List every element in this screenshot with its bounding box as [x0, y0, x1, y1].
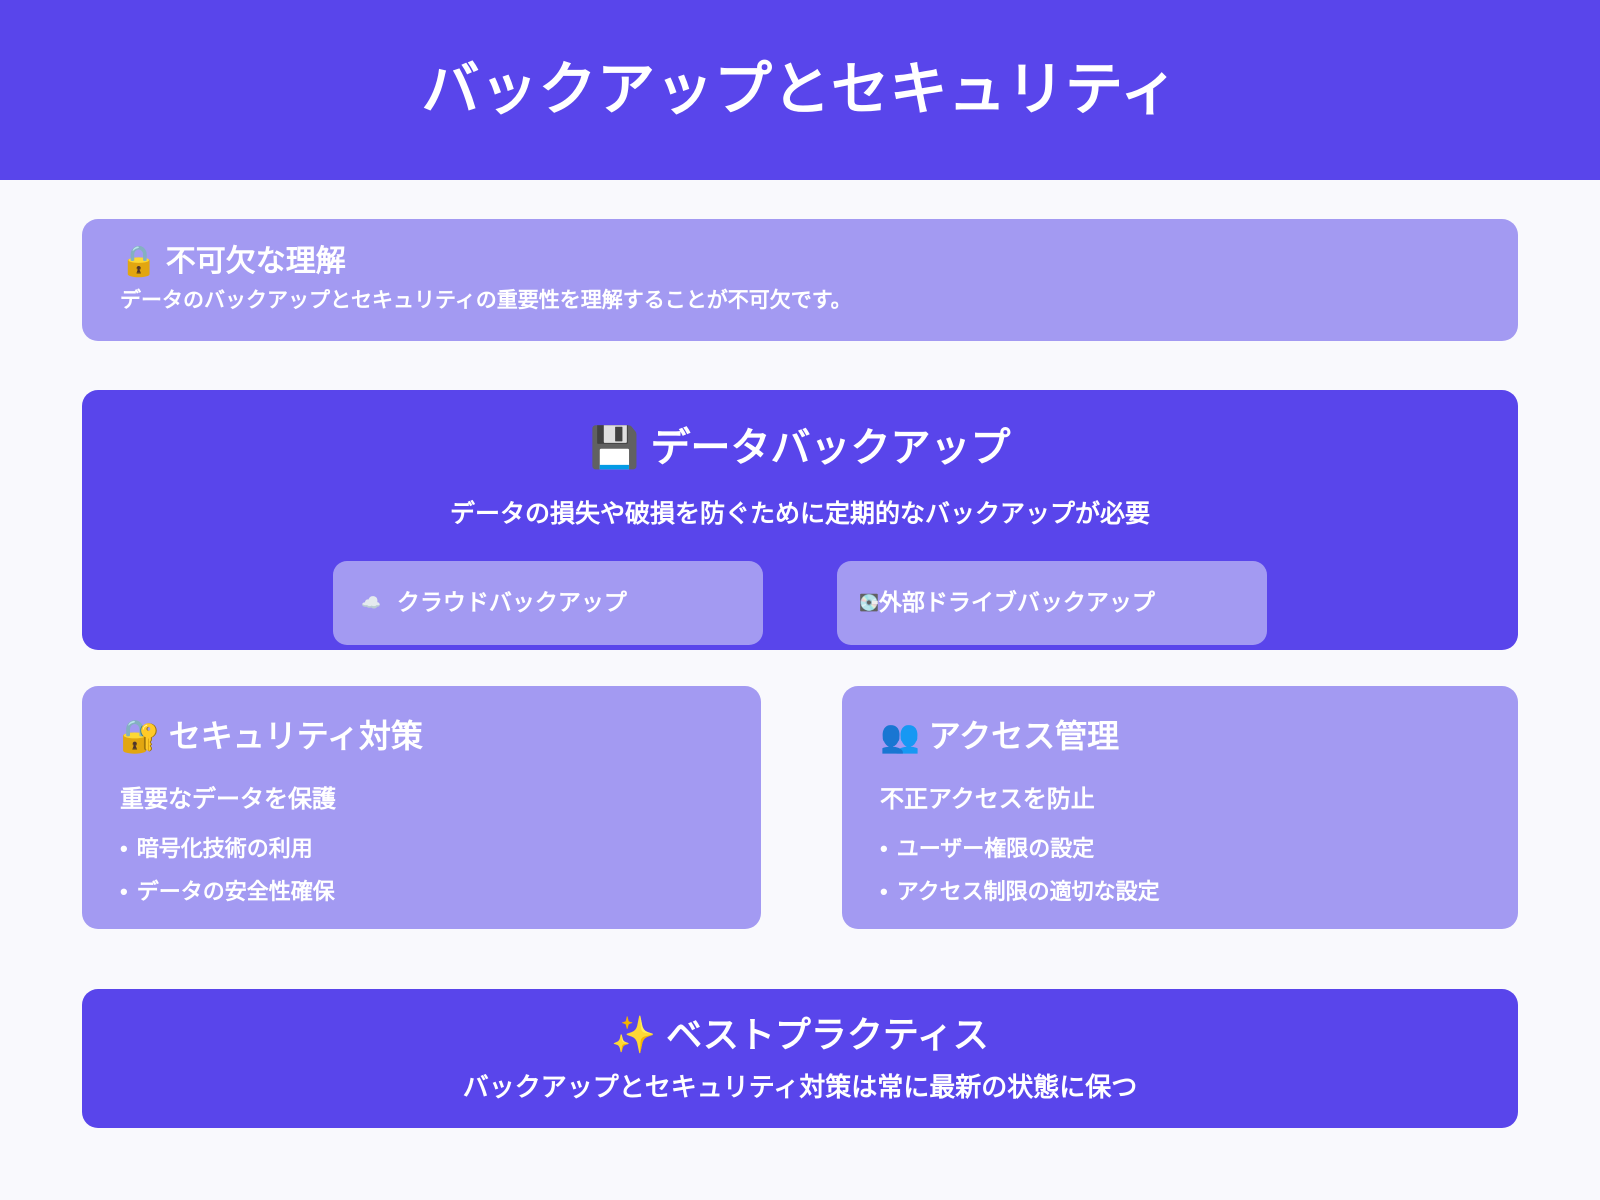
list-item: • データの安全性確保: [120, 878, 723, 907]
backup-option-cloud-label: クラウドバックアップ: [381, 589, 627, 617]
card-best-description: バックアップとセキュリティ対策は常に最新の状態に保つ: [463, 1071, 1137, 1105]
card-access-title: アクセス管理: [929, 718, 1119, 754]
card-security-measures: 🔐 セキュリティ対策 重要なデータを保護 • 暗号化技術の利用 • データの安全…: [82, 686, 761, 929]
card-access-description: 不正アクセスを防止: [880, 784, 1480, 815]
access-bullet-list: • ユーザー権限の設定 • アクセス制限の適切な設定: [880, 835, 1480, 906]
backup-option-cloud[interactable]: ☁️ クラウドバックアップ: [333, 561, 763, 645]
bullet-dot-icon: •: [120, 881, 128, 903]
page-header: バックアップとセキュリティ: [0, 0, 1600, 180]
locked-padlock-icon: 🔒: [120, 244, 157, 279]
backup-option-external-drive[interactable]: 💽 外部ドライブバックアップ: [837, 561, 1267, 645]
card-intro-title-row: 🔒 不可欠な理解: [120, 243, 1480, 281]
floppy-disk-icon: 💾: [590, 425, 640, 471]
security-bullet-list: • 暗号化技術の利用 • データの安全性確保: [120, 835, 723, 906]
list-item: • ユーザー権限の設定: [880, 835, 1480, 864]
page-title: バックアップとセキュリティ: [421, 58, 1178, 122]
card-data-backup: 💾 データバックアップ データの損失や破損を防ぐために定期的なバックアップが必要…: [82, 390, 1518, 650]
sparkles-icon: ✨: [611, 1015, 656, 1056]
card-essential-understanding: 🔒 不可欠な理解 データのバックアップとセキュリティの重要性を理解することが不可…: [82, 219, 1518, 341]
card-access-title-row: 👥 アクセス管理: [880, 716, 1480, 756]
busts-in-silhouette-icon: 👥: [880, 717, 920, 755]
list-item: • 暗号化技術の利用: [120, 835, 723, 864]
card-security-title: セキュリティ対策: [169, 718, 423, 754]
locked-with-key-icon: 🔐: [120, 717, 160, 755]
backup-option-list: ☁️ クラウドバックアップ 💽 外部ドライブバックアップ: [122, 561, 1478, 645]
card-security-title-row: 🔐 セキュリティ対策: [120, 716, 723, 756]
card-access-management: 👥 アクセス管理 不正アクセスを防止 • ユーザー権限の設定 • アクセス制限の…: [842, 686, 1518, 929]
slide-root: バックアップとセキュリティ 🔒 不可欠な理解 データのバックアップとセキュリティ…: [0, 0, 1600, 1200]
cloud-icon: ☁️: [361, 593, 381, 612]
bullet-dot-icon: •: [880, 838, 888, 860]
card-backup-description: データの損失や破損を防ぐために定期的なバックアップが必要: [450, 498, 1150, 531]
backup-option-external-drive-label: 外部ドライブバックアップ: [879, 589, 1155, 617]
card-best-title: ベストプラクティス: [666, 1014, 989, 1055]
bullet-dot-icon: •: [120, 838, 128, 860]
security-bullet-text: 暗号化技術の利用: [137, 835, 313, 864]
card-best-practices: ✨ ベストプラクティス バックアップとセキュリティ対策は常に最新の状態に保つ: [82, 989, 1518, 1128]
card-backup-title: データバックアップ: [650, 426, 1010, 470]
card-intro-title: 不可欠な理解: [166, 245, 346, 278]
card-security-description: 重要なデータを保護: [120, 784, 723, 815]
security-bullet-text: データの安全性確保: [137, 878, 335, 907]
access-bullet-text: アクセス制限の適切な設定: [897, 878, 1160, 907]
card-backup-title-row: 💾 データバックアップ: [590, 424, 1011, 472]
card-best-title-row: ✨ ベストプラクティス: [611, 1013, 988, 1057]
card-intro-description: データのバックアップとセキュリティの重要性を理解することが不可欠です。: [120, 287, 1480, 314]
optical-disk-icon: 💽: [859, 593, 879, 612]
list-item: • アクセス制限の適切な設定: [880, 878, 1480, 907]
access-bullet-text: ユーザー権限の設定: [897, 835, 1095, 864]
bullet-dot-icon: •: [880, 881, 888, 903]
